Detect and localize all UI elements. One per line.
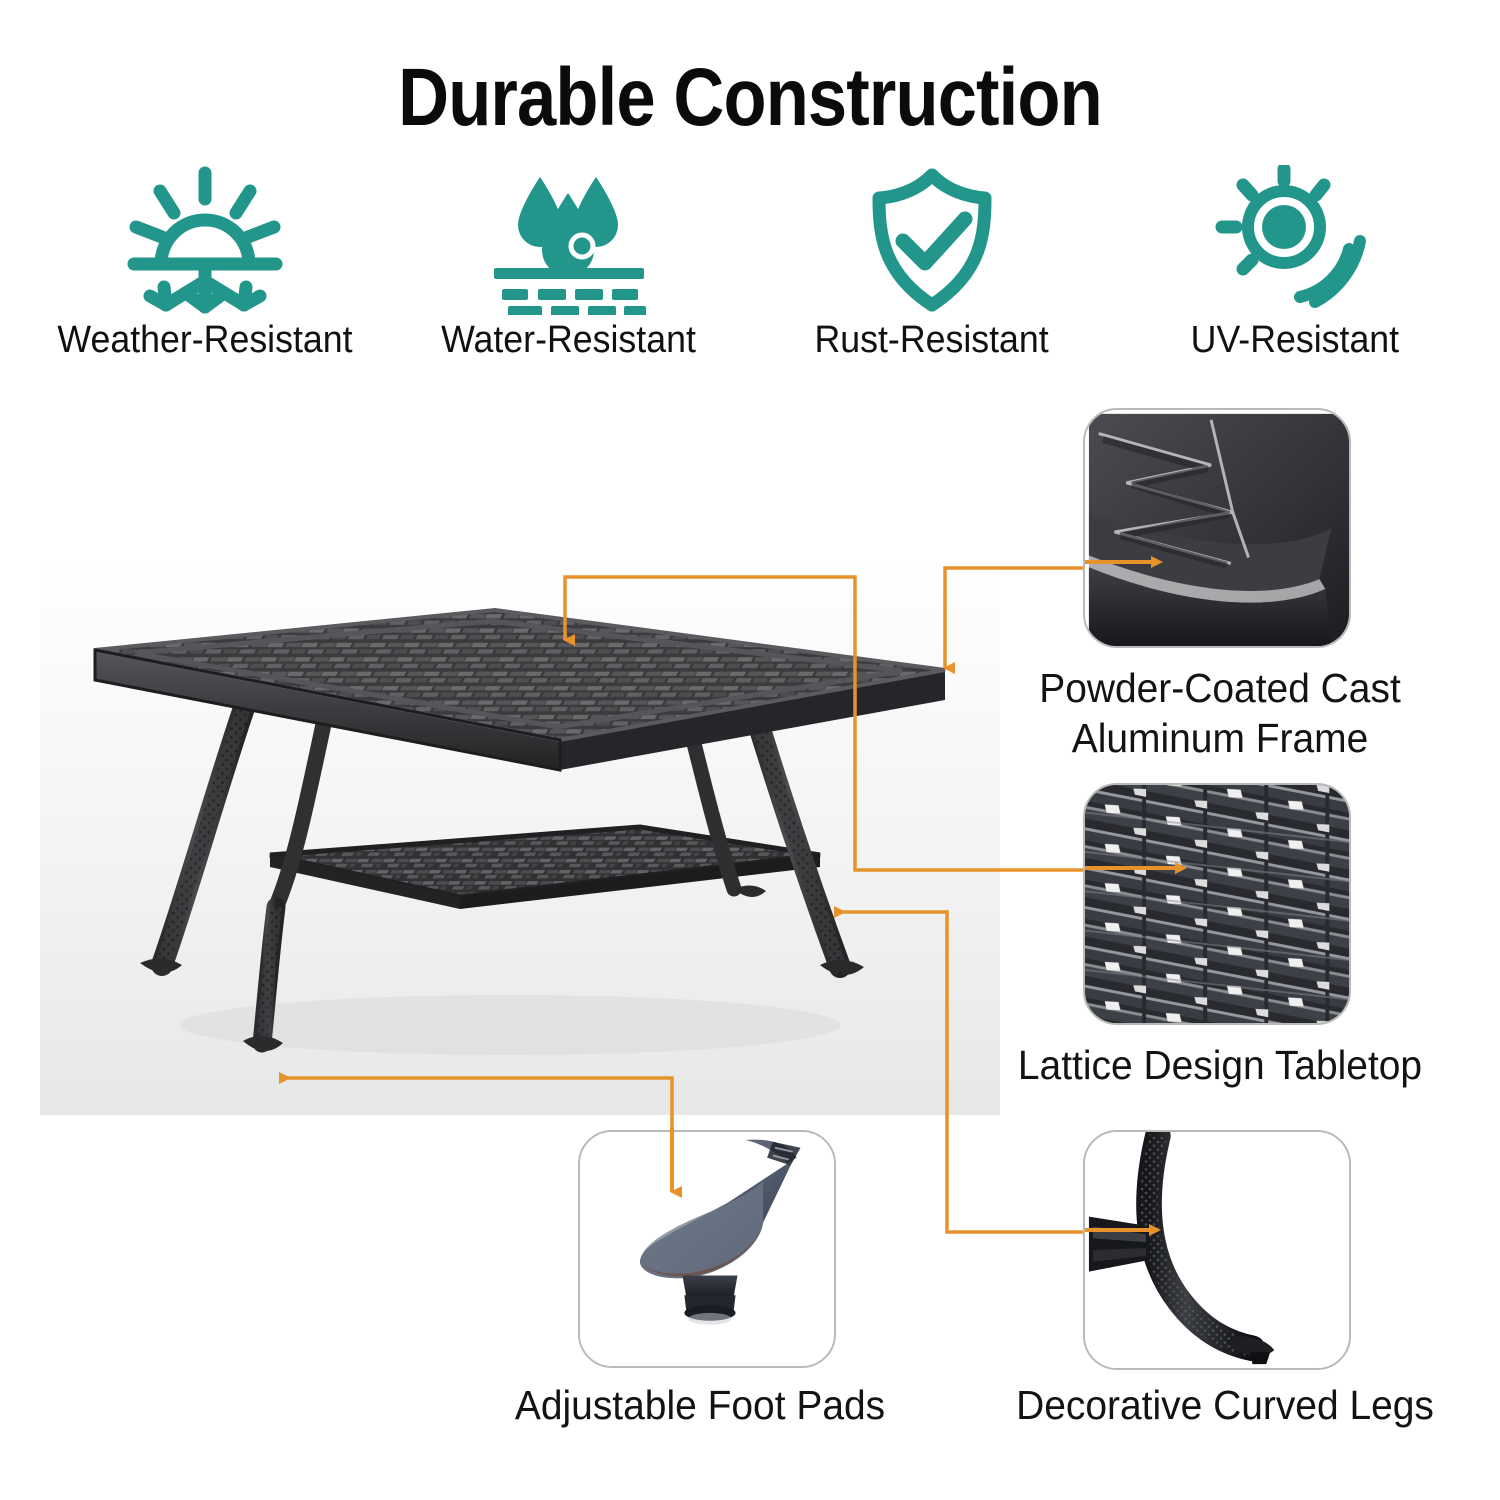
feature-uv-resistant: UV-Resistant [1120,165,1470,363]
weather-sun-snowflake-icon [120,165,290,315]
callout-caption-lattice: Lattice Design Tabletop [968,1040,1472,1090]
feature-label: Weather-Resistant [57,317,352,363]
page-title: Durable Construction [105,52,1395,144]
product-photo-coffee-table [40,555,1000,1115]
callout-caption-frame: Powder-Coated Cast Aluminum Frame [1011,663,1429,763]
feature-label: Rust-Resistant [815,317,1049,363]
uv-sun-waves-icon [1212,165,1377,315]
feature-water-resistant: Water-Resistant [393,165,743,363]
feature-label: UV-Resistant [1191,317,1399,363]
shield-check-icon [857,165,1007,315]
inset-adjustable-foot-pad [578,1130,836,1368]
inset-decorative-curved-leg [1083,1130,1351,1370]
inset-powder-coated-frame-edge [1083,408,1351,648]
callout-caption-legs: Decorative Curved Legs [988,1380,1463,1430]
inset-lattice-tabletop [1083,783,1351,1025]
feature-rust-resistant: Rust-Resistant [757,165,1107,363]
feature-badge-row: Weather-Resistant [0,165,1500,365]
feature-weather-resistant: Weather-Resistant [30,165,380,363]
water-droplets-surface-icon [478,165,658,315]
feature-label: Water-Resistant [441,317,696,363]
callout-caption-foot: Adjustable Foot Pads [472,1380,928,1430]
infographic-canvas: Durable Construction [0,0,1500,1500]
